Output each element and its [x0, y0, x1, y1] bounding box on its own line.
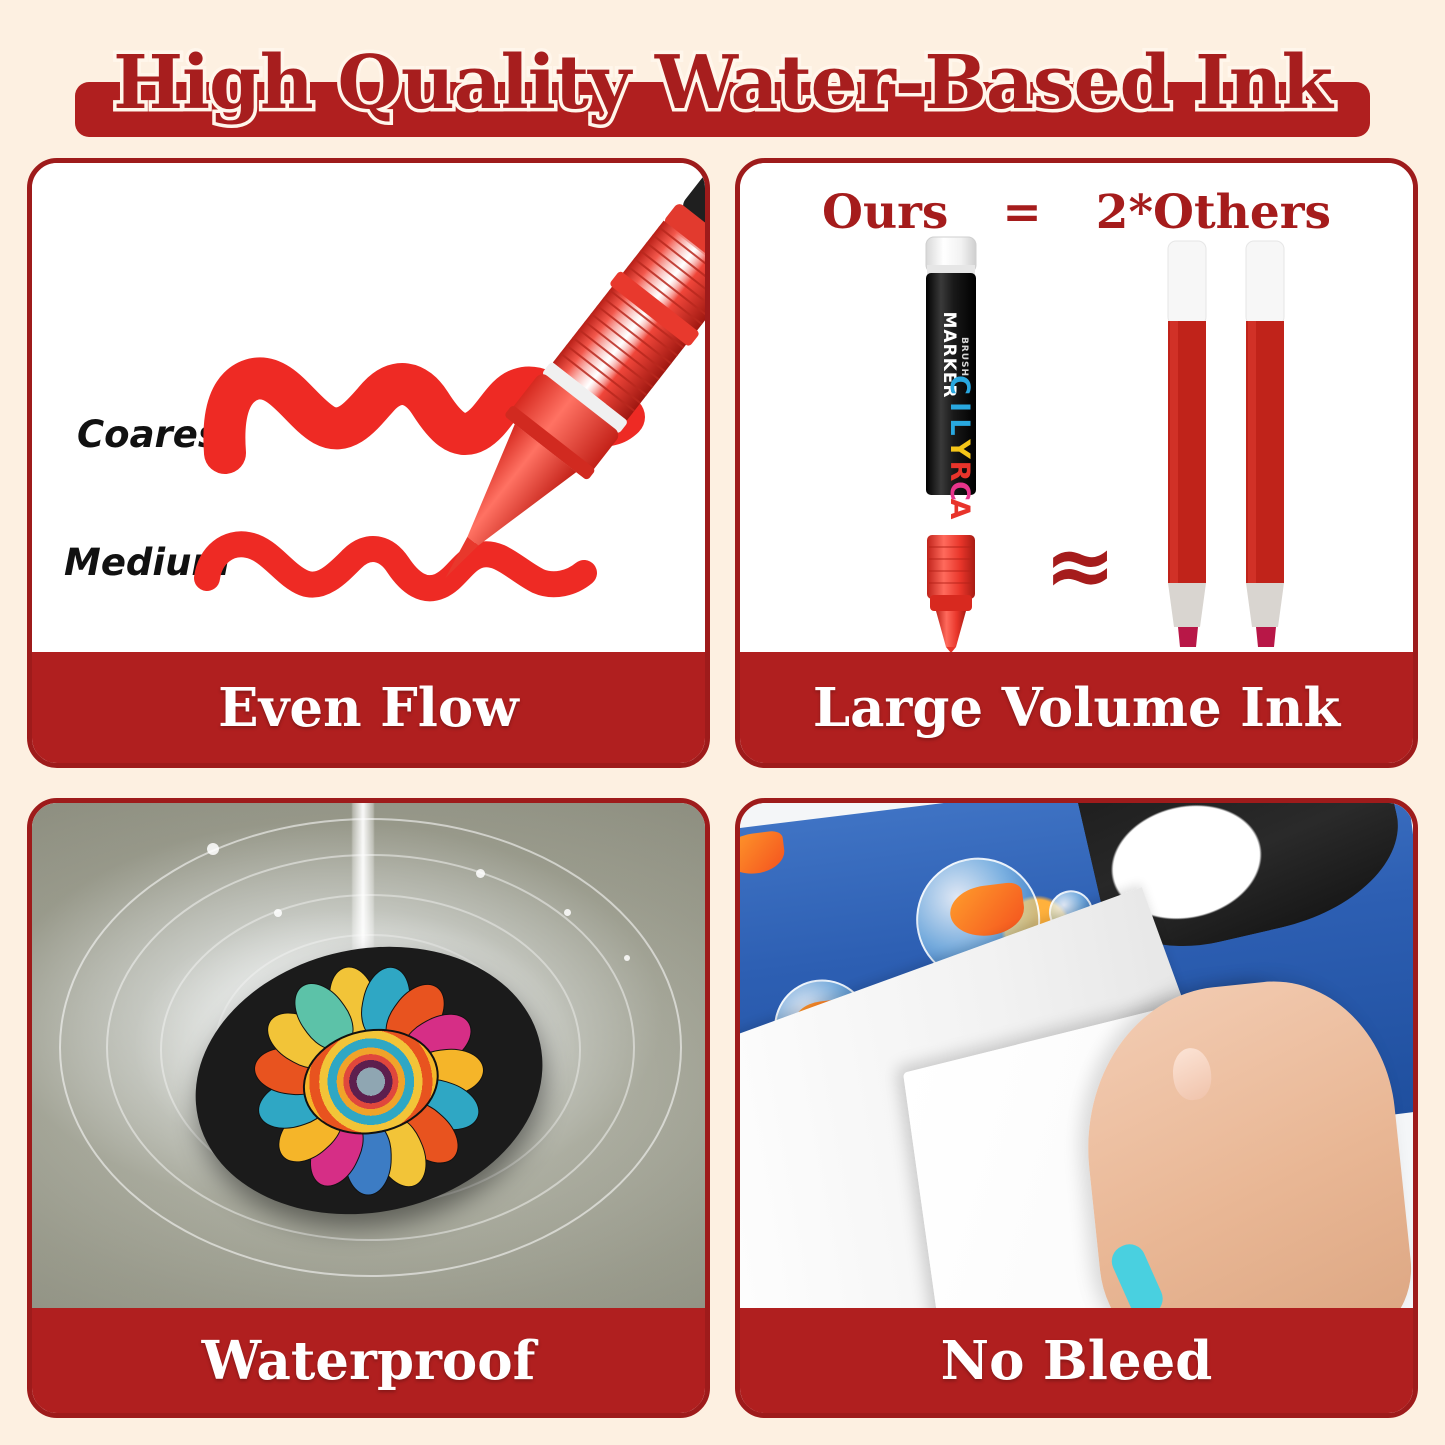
panel-even-flow: Coares Medium Fine: [27, 158, 710, 768]
svg-text:I: I: [944, 402, 975, 412]
svg-text:BRUSH: BRUSH: [959, 337, 969, 377]
water-droplet: [476, 869, 485, 878]
panel-waterproof: Waterproof: [27, 798, 710, 1418]
goldfish: [740, 830, 786, 877]
svg-text:R: R: [944, 461, 975, 482]
svg-text:L: L: [944, 418, 975, 435]
water-droplet: [564, 909, 571, 916]
footer-even-flow: Even Flow: [32, 652, 705, 763]
acrylic-marker-icon: MARKER BRUSH C I L Y R C A: [896, 235, 1006, 652]
label-others: 2*Others: [1096, 185, 1331, 240]
label-equals: =: [1002, 185, 1041, 240]
waterproof-photo: [32, 803, 705, 1308]
footer-waterproof: Waterproof: [32, 1308, 705, 1413]
blue-nail: [1106, 1239, 1167, 1308]
brush-marker-pen-icon: [428, 163, 705, 652]
svg-text:A: A: [944, 499, 975, 520]
svg-text:C: C: [944, 375, 975, 395]
svg-text:Y: Y: [944, 438, 975, 459]
panel-large-volume-ink: Ours = 2*Others: [735, 158, 1418, 768]
panel-no-bleed: No Bleed: [735, 798, 1418, 1418]
footer-no-bleed: No Bleed: [740, 1308, 1413, 1413]
fingernail: [1170, 1046, 1213, 1102]
footer-large-volume-ink: Large Volume Ink: [740, 652, 1413, 763]
footer-label-even-flow: Even Flow: [218, 677, 519, 739]
label-ours: Ours: [822, 185, 948, 240]
ink-tube-icon: [1140, 235, 1340, 652]
water-droplet: [624, 955, 630, 961]
sketchbook-page-turn-photo: [740, 803, 1413, 1308]
footer-label-no-bleed: No Bleed: [941, 1330, 1213, 1392]
page-title: High Quality Water-Based Ink: [0, 44, 1445, 122]
painted-rock-in-water-photo: [32, 803, 705, 1308]
footer-label-waterproof: Waterproof: [202, 1330, 536, 1392]
even-flow-illustration: Coares Medium Fine: [32, 163, 705, 652]
large-volume-illustration: Ours = 2*Others: [740, 163, 1413, 652]
page-header: High Quality Water-Based Ink: [0, 22, 1445, 140]
approx-equal-icon: ≈: [1015, 523, 1145, 609]
volume-comparison-heading: Ours = 2*Others: [740, 185, 1413, 240]
no-bleed-photo: [740, 803, 1413, 1308]
footer-label-large-volume-ink: Large Volume Ink: [813, 677, 1340, 739]
